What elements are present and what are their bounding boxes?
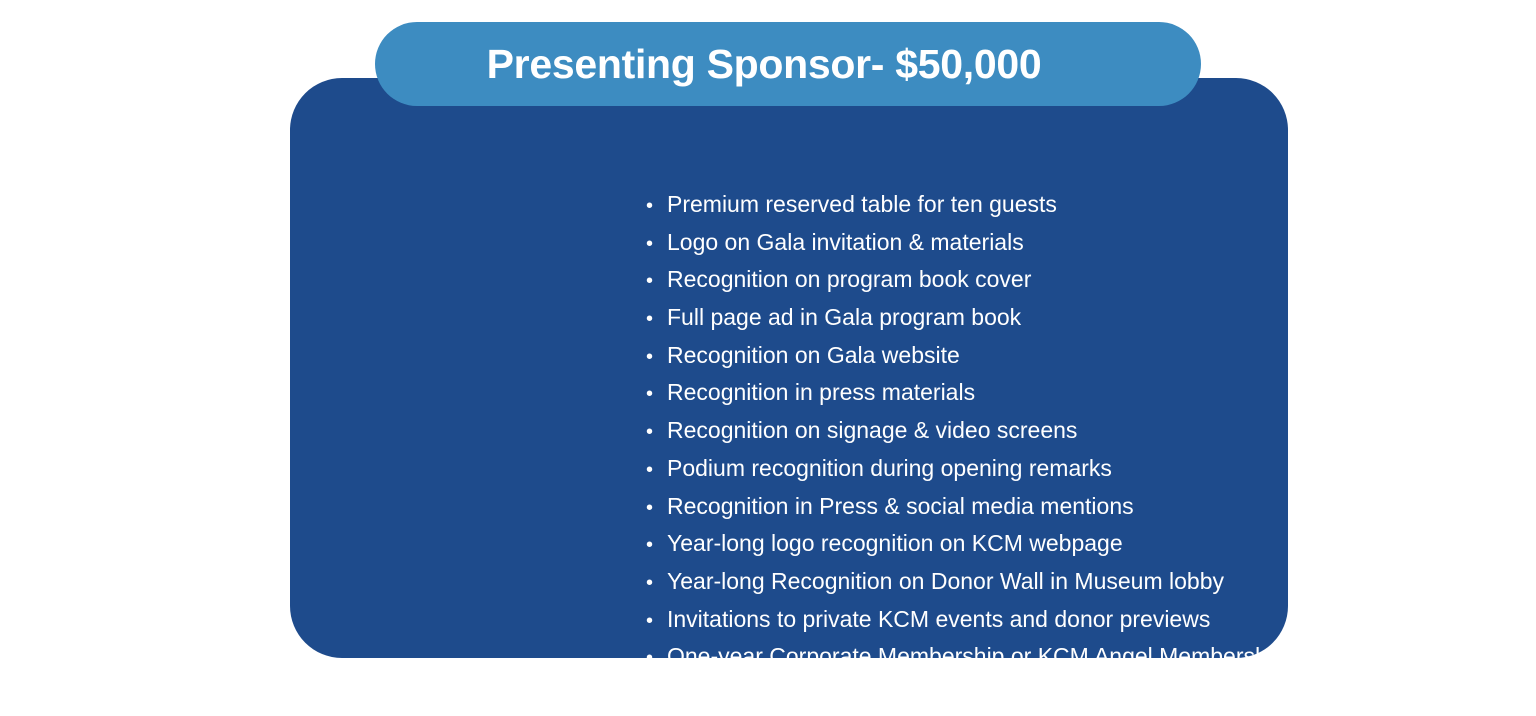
benefit-text: Recognition on Gala website <box>667 337 960 375</box>
benefit-list-item: •Recognition on Gala website <box>646 337 1536 375</box>
benefit-text: Year-long logo recognition on KCM webpag… <box>667 525 1123 563</box>
benefit-text: Full page ad in Gala program book <box>667 299 1021 337</box>
sponsor-tier-card: •Premium reserved table for ten guests•L… <box>290 78 1288 658</box>
benefit-list-item: •Logo on Gala invitation & materials <box>646 224 1536 262</box>
benefit-text: One-year Corporate Membership or KCM Ang… <box>667 638 1286 676</box>
bullet-icon: • <box>646 226 667 264</box>
bullet-icon: • <box>646 301 667 339</box>
benefit-list-item: •Full page ad in Gala program book <box>646 299 1536 337</box>
sponsor-benefits-list: •Premium reserved table for ten guests•L… <box>646 186 1536 714</box>
bullet-icon: • <box>646 339 667 377</box>
bullet-icon: • <box>646 188 667 226</box>
benefit-text: Recognition on signage & video screens <box>667 412 1077 450</box>
benefit-text: Logo on Gala invitation & materials <box>667 224 1024 262</box>
sponsor-tier-header-pill: Presenting Sponsor- $50,000 <box>375 22 1201 106</box>
bullet-icon: • <box>646 603 667 641</box>
benefit-list-item: •“Sponsor Spotlight” feature in donor e-… <box>646 676 1536 714</box>
benefit-list-item: •Podium recognition during opening remar… <box>646 450 1536 488</box>
benefit-list-item: •Recognition in Press & social media men… <box>646 488 1536 526</box>
bullet-icon: • <box>646 376 667 414</box>
benefit-text: Invitations to private KCM events and do… <box>667 601 1210 639</box>
bullet-icon: • <box>646 640 667 678</box>
benefit-list-item: •Recognition on signage & video screens <box>646 412 1536 450</box>
bullet-icon: • <box>646 263 667 301</box>
benefit-list-item: •Premium reserved table for ten guests <box>646 186 1536 224</box>
benefit-text: Premium reserved table for ten guests <box>667 186 1057 224</box>
benefit-text: “Sponsor Spotlight” feature in donor e-n… <box>667 676 1416 714</box>
benefit-text: Podium recognition during opening remark… <box>667 450 1112 488</box>
bullet-icon: • <box>646 527 667 565</box>
benefit-list-item: •Recognition in press materials <box>646 374 1536 412</box>
page-title: Presenting Sponsor- $50,000 <box>487 44 1042 85</box>
bullet-icon: • <box>646 490 667 528</box>
bullet-icon: • <box>646 565 667 603</box>
benefit-text: Recognition on program book cover <box>667 261 1031 299</box>
benefit-list-item: •One-year Corporate Membership or KCM An… <box>646 638 1536 676</box>
benefit-list-item: •Recognition on program book cover <box>646 261 1536 299</box>
bullet-icon: • <box>646 414 667 452</box>
benefit-text: Recognition in press materials <box>667 374 975 412</box>
bullet-icon: • <box>646 452 667 490</box>
bullet-icon: • <box>646 678 667 716</box>
benefit-text: Recognition in Press & social media ment… <box>667 488 1134 526</box>
benefit-list-item: •Year-long logo recognition on KCM webpa… <box>646 525 1536 563</box>
benefit-list-item: •Invitations to private KCM events and d… <box>646 601 1536 639</box>
benefit-list-item: •Year-long Recognition on Donor Wall in … <box>646 563 1536 601</box>
benefit-text: Year-long Recognition on Donor Wall in M… <box>667 563 1224 601</box>
